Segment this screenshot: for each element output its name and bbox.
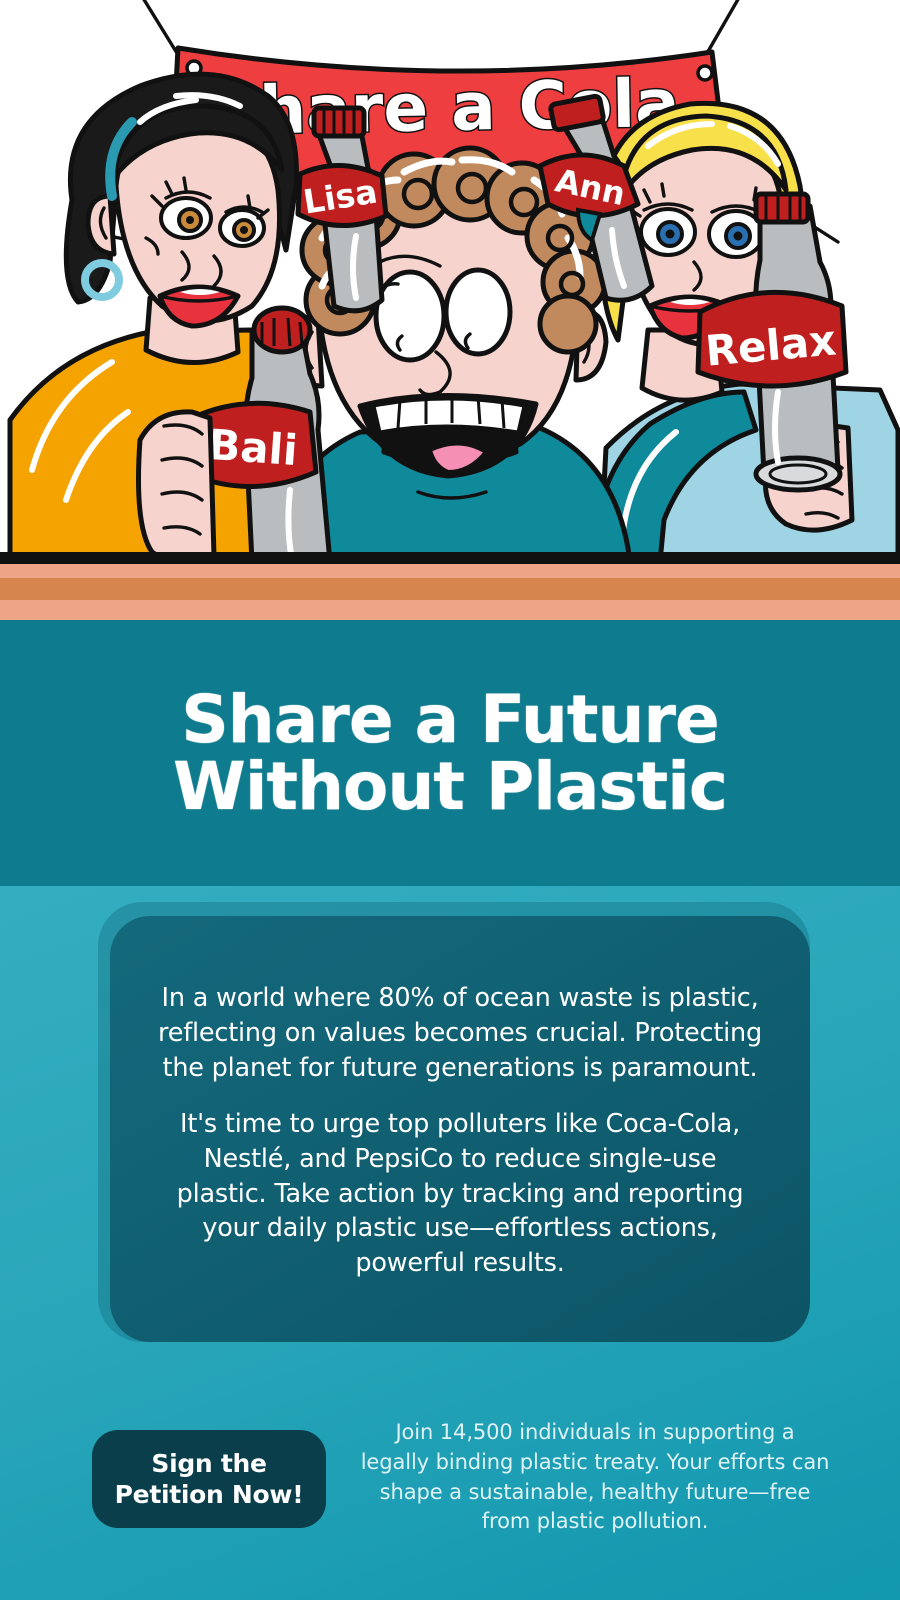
bottle-label-bali: Bali: [207, 420, 299, 475]
cta-supporting-note: Join 14,500 individuals in supporting a …: [360, 1418, 830, 1537]
info-paragraph-2: It's time to urge top polluters like Coc…: [156, 1107, 764, 1280]
divider-peach-bottom: [0, 600, 900, 620]
hero-illustration: .ol { stroke:#111; stroke-width:5; strok…: [0, 0, 900, 562]
info-paragraph-1: In a world where 80% of ocean waste is p…: [156, 981, 764, 1085]
info-card: In a world where 80% of ocean waste is p…: [110, 916, 810, 1342]
divider-orange: [0, 578, 900, 600]
cta-row: Sign the Petition Now! Join 14,500 indiv…: [0, 1400, 900, 1570]
headline-line-1: Share a Future: [173, 686, 727, 753]
divider-peach-top: [0, 564, 900, 578]
sign-petition-button-line-1: Sign the: [151, 1448, 266, 1479]
page-title: Share a Future Without Plastic: [173, 686, 727, 821]
headline-band: Share a Future Without Plastic: [0, 620, 900, 886]
headline-line-2: Without Plastic: [173, 753, 727, 820]
share-a-cola-cartoon-illustration: .ol { stroke:#111; stroke-width:5; strok…: [0, 0, 900, 562]
sign-petition-button-line-2: Petition Now!: [115, 1479, 304, 1510]
sign-petition-button[interactable]: Sign the Petition Now!: [92, 1430, 326, 1528]
